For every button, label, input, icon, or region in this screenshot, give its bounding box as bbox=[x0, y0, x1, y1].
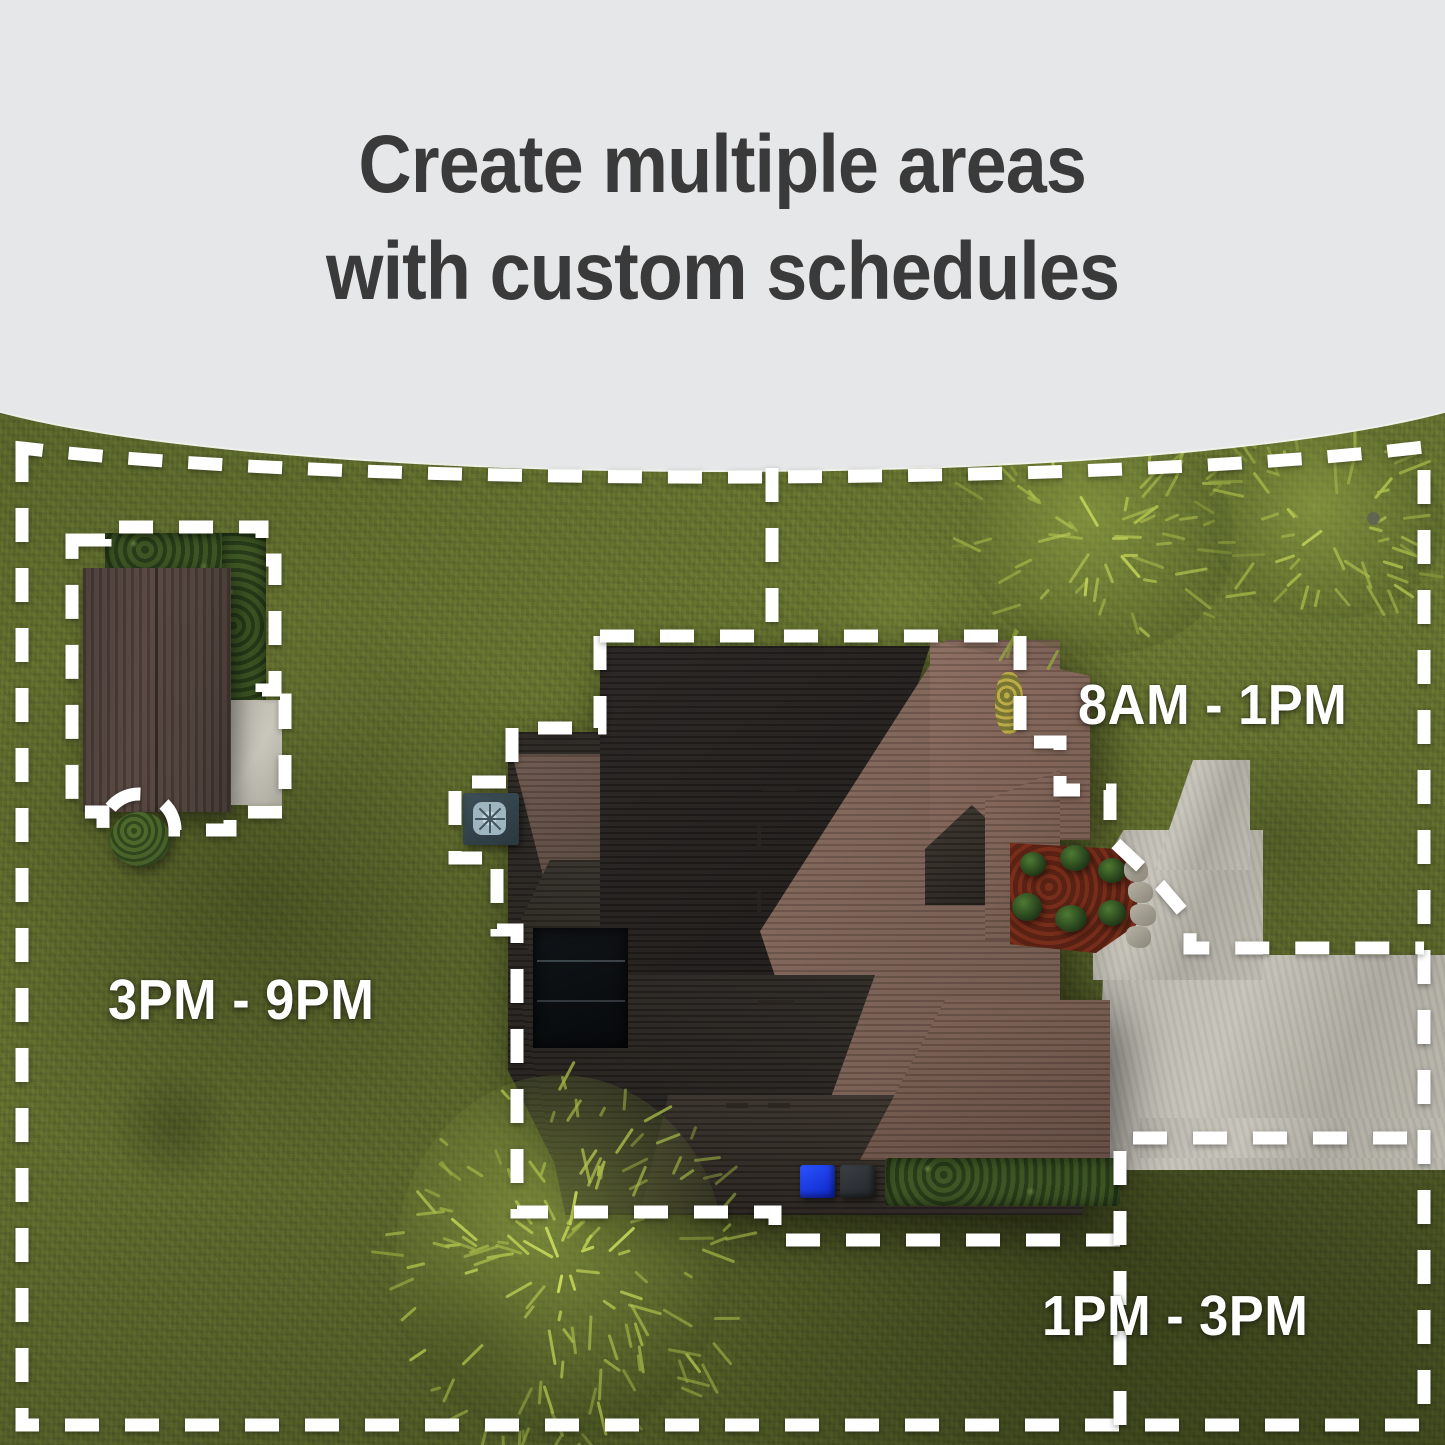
outer-property-boundary bbox=[22, 447, 1424, 1425]
zone-divider-vertical bbox=[772, 468, 1020, 636]
zone-label-3pm-9pm: 3PM - 9PM bbox=[108, 967, 374, 1033]
promo-graphic: 8AM - 1PM 3PM - 9PM 1PM - 3PM Create mul… bbox=[0, 0, 1445, 1445]
zone-1pm-3pm-boundary bbox=[1120, 1138, 1424, 1425]
aerial-property-map: 8AM - 1PM 3PM - 9PM 1PM - 3PM bbox=[0, 0, 1445, 1445]
zone-shed-boundary bbox=[72, 527, 285, 830]
zone-label-1pm-3pm: 1PM - 3PM bbox=[1042, 1283, 1308, 1349]
zone-label-8am-1pm: 8AM - 1PM bbox=[1078, 672, 1347, 738]
